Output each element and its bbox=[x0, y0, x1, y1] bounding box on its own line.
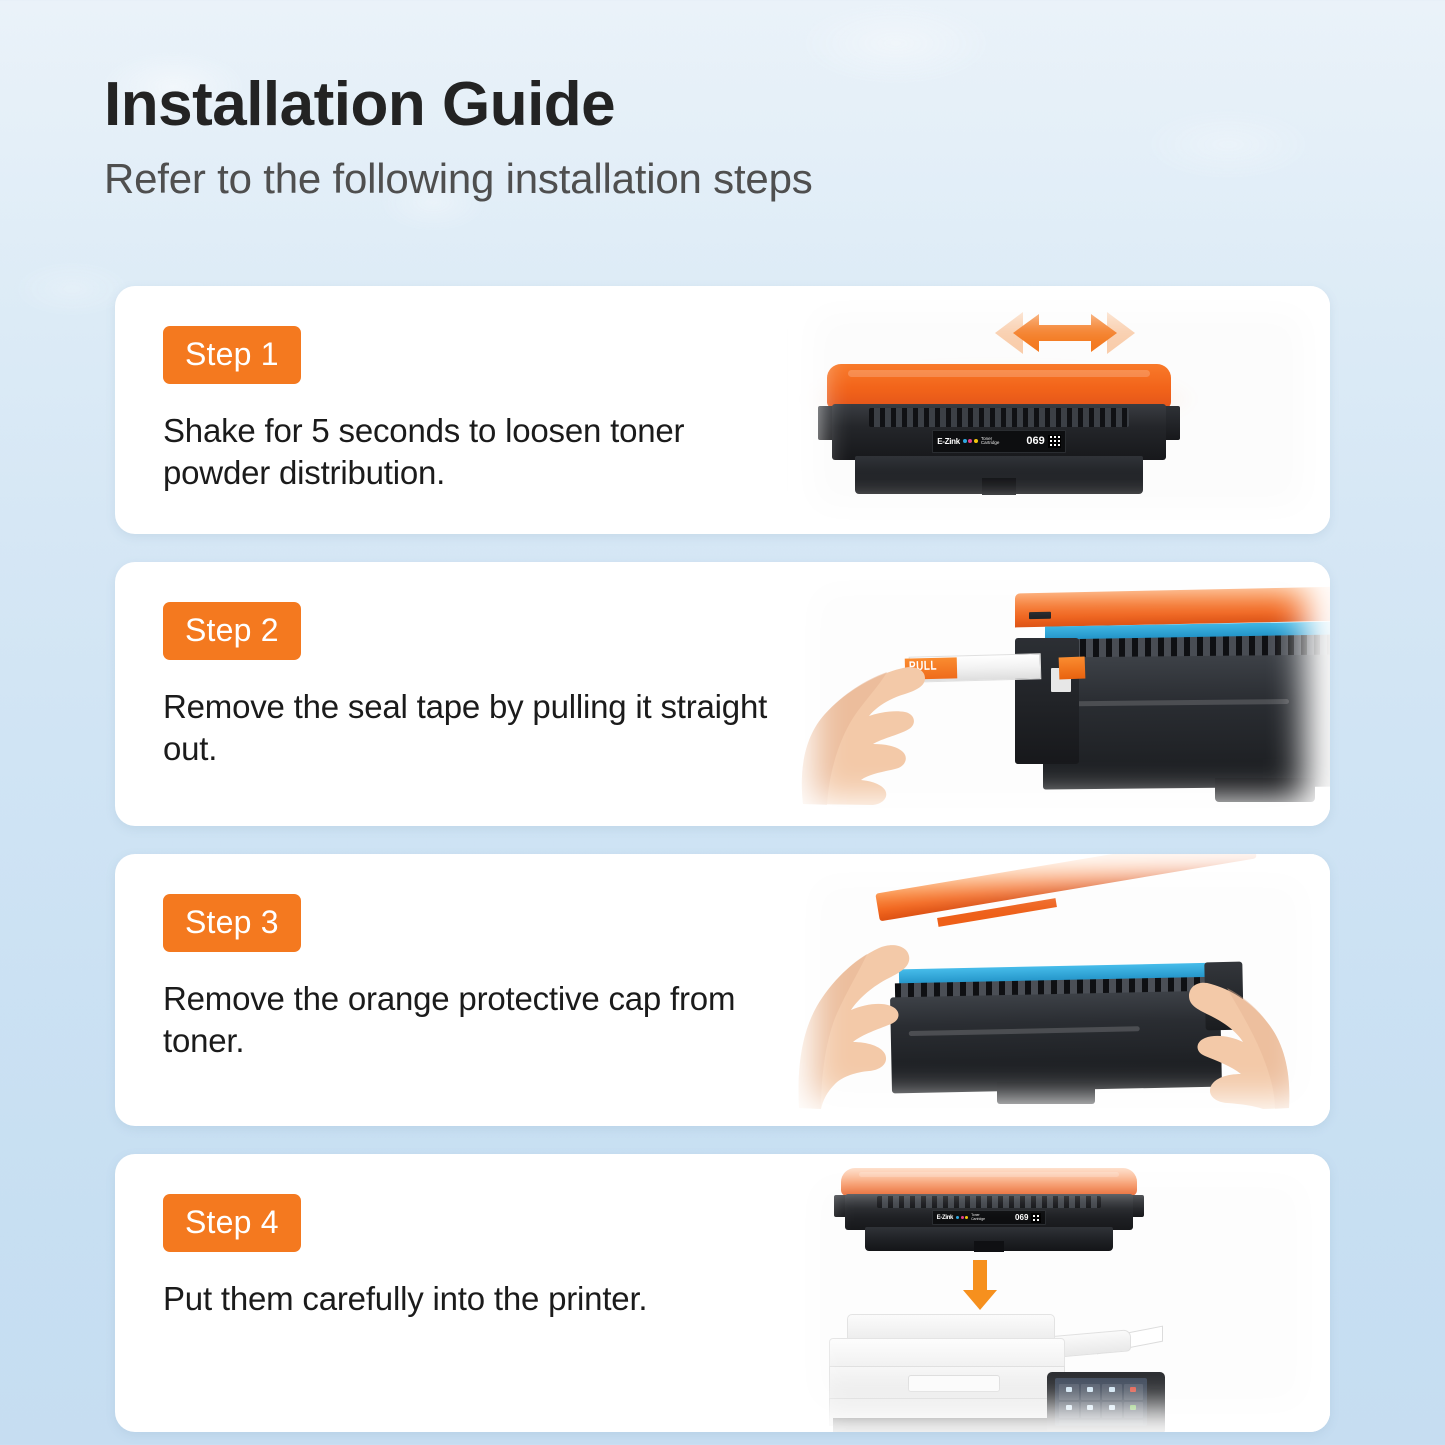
hand-pulling-tape bbox=[799, 628, 989, 806]
cartridge-vents bbox=[877, 1196, 1101, 1208]
printer-output-slot bbox=[908, 1375, 1000, 1392]
label-qr-code bbox=[1031, 1213, 1041, 1223]
cartridge-base bbox=[855, 456, 1144, 494]
cartridge-base bbox=[865, 1227, 1114, 1251]
cartridge-label: E-Zink Toner Cartridge bbox=[932, 430, 1065, 453]
printer-main-body bbox=[829, 1366, 1065, 1400]
touchscreen-status-bar bbox=[1059, 1420, 1143, 1425]
toner-cartridge: E-Zink Toner Cartridge bbox=[841, 1168, 1137, 1254]
step-3-stage bbox=[787, 854, 1330, 1126]
step-4-description: Put them carefully into the printer. bbox=[163, 1278, 787, 1320]
page-title: Installation Guide bbox=[104, 74, 813, 136]
shake-double-arrow-icon bbox=[955, 304, 1175, 362]
step-3-illustration bbox=[787, 854, 1330, 1126]
dot-cyan bbox=[963, 439, 967, 443]
right-hand bbox=[1163, 978, 1291, 1110]
step-card-3: Step 3 Remove the orange protective cap … bbox=[115, 854, 1330, 1126]
label-model: 069 bbox=[1026, 435, 1044, 447]
cartridge-label: E-Zink Toner Cartridge bbox=[932, 1210, 1047, 1224]
left-hand bbox=[797, 902, 949, 1110]
dot-yellow bbox=[965, 1216, 968, 1219]
step-2-stage: PULL bbox=[787, 562, 1330, 826]
label-product-text: Toner Cartridge bbox=[971, 1214, 985, 1221]
cartridge-foot bbox=[997, 1082, 1095, 1104]
step-4-text-panel: Step 4 Put them carefully into the print… bbox=[115, 1154, 787, 1432]
touchscreen-app-usb bbox=[1059, 1402, 1079, 1418]
printer-scanner-lid bbox=[847, 1314, 1055, 1340]
touchscreen-app-supplies bbox=[1124, 1384, 1144, 1400]
cartridge-orange-cap bbox=[827, 364, 1171, 408]
label-line-2: Cartridge bbox=[971, 1218, 985, 1222]
cartridge-orange-cap bbox=[841, 1168, 1137, 1196]
insert-down-arrow-icon bbox=[962, 1260, 998, 1310]
step-1-text-panel: Step 1 Shake for 5 seconds to loosen ton… bbox=[115, 286, 787, 534]
step-3-description: Remove the orange protective cap from to… bbox=[163, 978, 787, 1062]
step-card-4: Step 4 Put them carefully into the print… bbox=[115, 1154, 1330, 1432]
cartridge-vents bbox=[869, 408, 1129, 427]
dot-yellow bbox=[974, 439, 978, 443]
label-model: 069 bbox=[1015, 1213, 1028, 1222]
page-subtitle: Refer to the following installation step… bbox=[104, 158, 813, 200]
step-4-illustration: E-Zink Toner Cartridge bbox=[787, 1154, 1330, 1432]
toner-cartridge: E-Zink Toner Cartridge bbox=[827, 364, 1171, 498]
step-2-text-panel: Step 2 Remove the seal tape by pulling i… bbox=[115, 562, 787, 826]
cartridge-orange-cap bbox=[1015, 587, 1330, 628]
printer bbox=[825, 1314, 1185, 1432]
touchscreen-app-scan bbox=[1102, 1384, 1122, 1400]
printer-base bbox=[833, 1418, 1063, 1432]
step-3-badge: Step 3 bbox=[163, 894, 301, 952]
label-line-2: Cartridge bbox=[981, 441, 1000, 446]
step-1-badge: Step 1 bbox=[163, 326, 301, 384]
touchscreen-app-eco bbox=[1124, 1402, 1144, 1418]
step-1-stage: E-Zink Toner Cartridge bbox=[787, 286, 1330, 534]
dot-cyan bbox=[956, 1216, 959, 1219]
header: Installation Guide Refer to the followin… bbox=[104, 74, 813, 200]
step-2-description: Remove the seal tape by pulling it strai… bbox=[163, 686, 787, 770]
step-4-stage: E-Zink Toner Cartridge bbox=[787, 1154, 1330, 1432]
step-2-badge: Step 2 bbox=[163, 602, 301, 660]
step-1-illustration: E-Zink Toner Cartridge bbox=[787, 286, 1330, 534]
toner-cartridge-side-view bbox=[1015, 590, 1330, 805]
printer-home-button bbox=[1150, 1388, 1161, 1416]
label-brand: E-Zink bbox=[937, 1215, 954, 1221]
printer-touchscreen bbox=[1055, 1378, 1147, 1426]
cartridge-body bbox=[1043, 654, 1330, 789]
seal-tape-anchor-tab bbox=[1059, 657, 1086, 680]
cartridge-body: E-Zink Toner Cartridge bbox=[832, 404, 1166, 460]
step-card-2: Step 2 Remove the seal tape by pulling i… bbox=[115, 562, 1330, 826]
step-4-badge: Step 4 bbox=[163, 1194, 301, 1252]
step-card-1: Step 1 Shake for 5 seconds to loosen ton… bbox=[115, 286, 1330, 534]
touchscreen-app-grid bbox=[1059, 1384, 1143, 1418]
printer-control-panel bbox=[1047, 1372, 1165, 1432]
step-2-illustration: PULL bbox=[787, 562, 1330, 826]
steps-list: Step 1 Shake for 5 seconds to loosen ton… bbox=[115, 286, 1330, 1445]
cartridge-body: E-Zink Toner Cartridge bbox=[845, 1194, 1132, 1230]
touchscreen-app-setup bbox=[1102, 1402, 1122, 1418]
dot-magenta bbox=[961, 1216, 964, 1219]
step-3-text-panel: Step 3 Remove the orange protective cap … bbox=[115, 854, 787, 1126]
touchscreen-app-network bbox=[1081, 1402, 1101, 1418]
step-1-description: Shake for 5 seconds to loosen toner powd… bbox=[163, 410, 787, 494]
touchscreen-app-fax bbox=[1081, 1384, 1101, 1400]
label-brand: E-Zink bbox=[937, 437, 960, 446]
dot-magenta bbox=[968, 439, 972, 443]
installation-guide-page: Installation Guide Refer to the followin… bbox=[0, 0, 1445, 1445]
cartridge-foot bbox=[1215, 778, 1315, 802]
label-color-dots bbox=[963, 439, 978, 443]
touchscreen-app-copy bbox=[1059, 1384, 1079, 1400]
label-qr-code bbox=[1048, 435, 1061, 448]
label-product-text: Toner Cartridge bbox=[981, 437, 1000, 446]
label-color-dots bbox=[956, 1216, 968, 1219]
